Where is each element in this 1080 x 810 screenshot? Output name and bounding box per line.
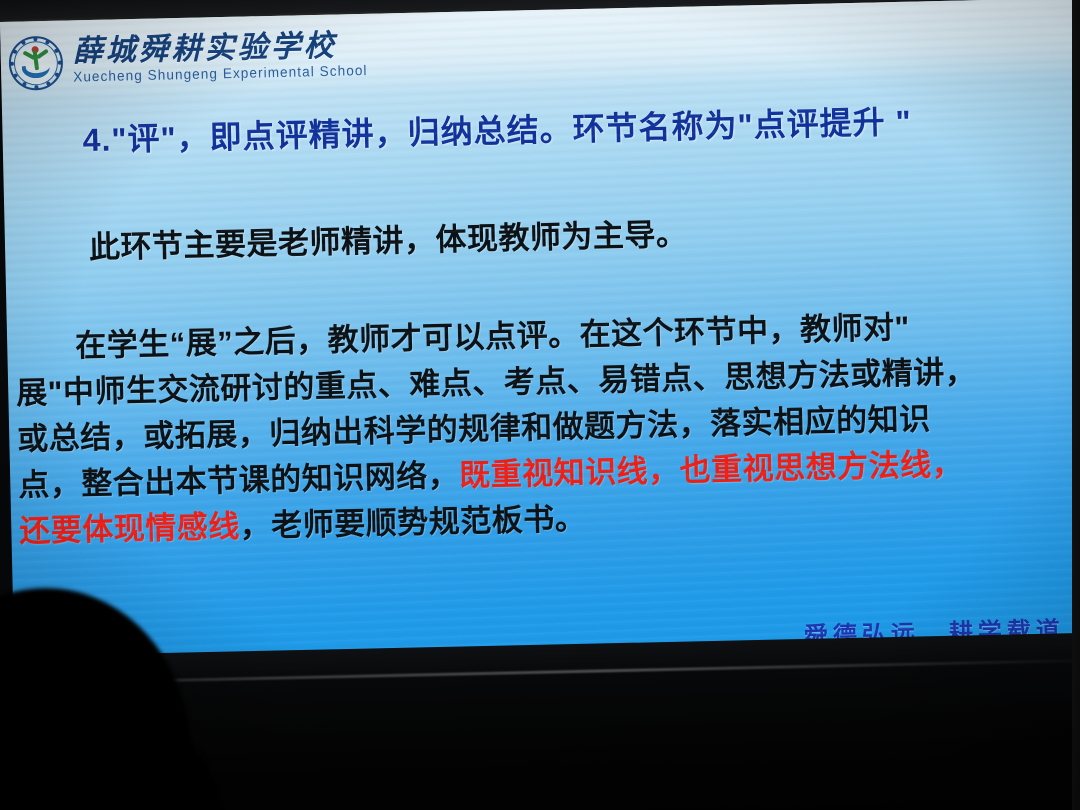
- slide-body: 在学生“展”之后，教师才可以点评。在这个环节中，教师对"展"中师生交流研讨的重点…: [15, 298, 1080, 552]
- body-text: ，老师要顺势规范板书。: [239, 501, 586, 544]
- school-name-block: 薛城舜耕实验学校 Xuecheng Shungeng Experimental …: [72, 31, 367, 84]
- school-name-cn: 薛城舜耕实验学校: [72, 31, 367, 68]
- slide-subtitle: 此环节主要是老师精讲，体现教师为主导。: [88, 209, 687, 267]
- slide-title: 4."评"，即点评精讲，归纳总结。环节名称为"点评提升 ": [82, 97, 912, 162]
- emphasis-text: 还要体现情感线: [19, 509, 240, 549]
- body-text: 点，整合出本节课的知识网络，: [18, 458, 460, 503]
- screen-bezel-right: [1072, 0, 1080, 810]
- slide-canvas: 薛城舜耕实验学校 Xuecheng Shungeng Experimental …: [0, 0, 1080, 682]
- projected-slide-photo: 薛城舜耕实验学校 Xuecheng Shungeng Experimental …: [0, 0, 1080, 810]
- projection-screen: 薛城舜耕实验学校 Xuecheng Shungeng Experimental …: [0, 0, 1080, 682]
- school-emblem-icon: [8, 36, 63, 91]
